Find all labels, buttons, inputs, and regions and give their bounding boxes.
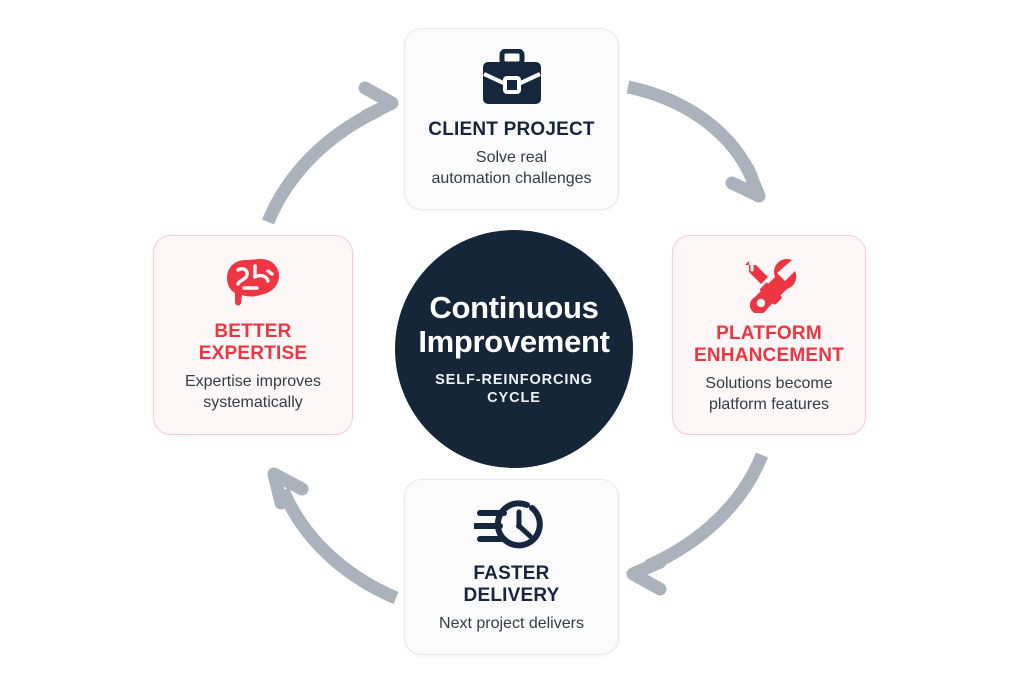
briefcase-icon — [479, 49, 545, 107]
node-description-better-expertise: Expertise improves systematically — [185, 371, 321, 413]
node-title-faster-delivery: FASTER DELIVERY — [464, 563, 560, 608]
hub-title: Continuous Improvement — [418, 291, 609, 360]
cycle-diagram-canvas: CLIENT PROJECT Solve real automation cha… — [0, 0, 1024, 683]
node-card-better-expertise[interactable]: BETTER EXPERTISE Expertise improves syst… — [153, 235, 353, 435]
node-card-faster-delivery[interactable]: FASTER DELIVERY Next project delivers — [404, 479, 619, 655]
node-title-client-project: CLIENT PROJECT — [428, 119, 594, 141]
cycle-hub: Continuous Improvement SELF-REINFORCING … — [395, 230, 633, 468]
arrow-right-to-bottom — [633, 455, 762, 589]
node-title-better-expertise: BETTER EXPERTISE — [199, 321, 307, 366]
node-card-platform-enhancement[interactable]: PLATFORM ENHANCEMENT Solutions become pl… — [672, 235, 866, 435]
node-description-faster-delivery: Next project delivers — [439, 613, 584, 634]
arrow-bottom-to-left — [274, 474, 396, 598]
node-title-platform-enhancement: PLATFORM ENHANCEMENT — [694, 323, 844, 368]
arrow-top-to-right — [628, 87, 759, 196]
wrench-screwdriver-icon — [739, 255, 799, 313]
node-description-platform-enhancement: Solutions become platform features — [705, 373, 832, 415]
brain-icon — [224, 257, 282, 311]
arrow-left-to-top — [268, 88, 392, 222]
hub-subtitle: SELF-REINFORCING CYCLE — [435, 371, 593, 407]
speed-clock-icon — [474, 500, 550, 552]
node-description-client-project: Solve real automation challenges — [431, 147, 591, 189]
node-card-client-project[interactable]: CLIENT PROJECT Solve real automation cha… — [404, 28, 619, 210]
